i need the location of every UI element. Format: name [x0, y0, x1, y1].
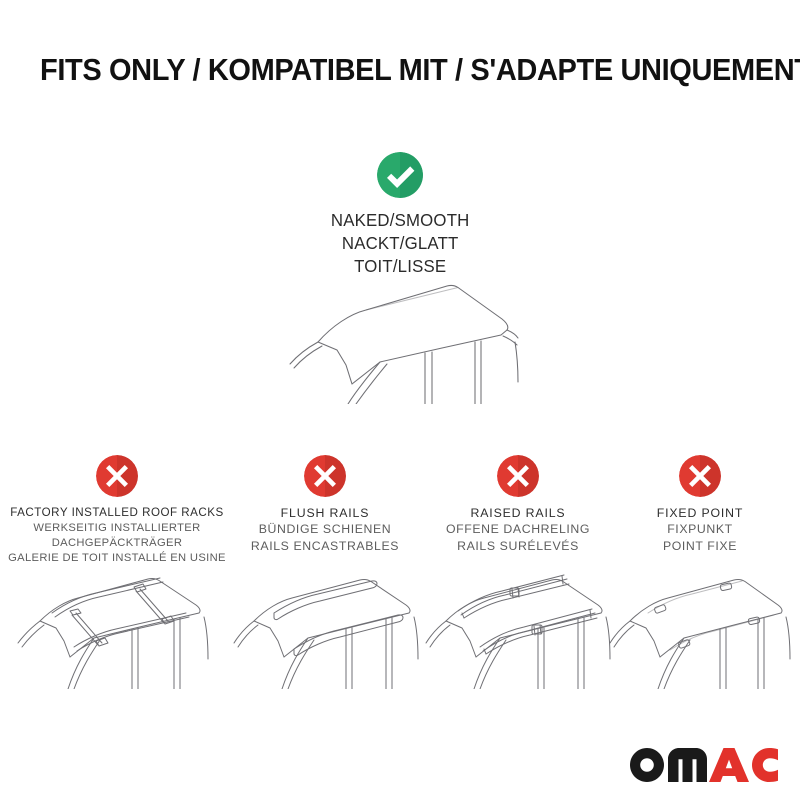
compatible-label-line-1: NAKED/SMOOTH: [331, 209, 470, 232]
logo-letter-m: [668, 748, 707, 782]
label-line-2: BÜNDIGE SCHIENEN: [251, 521, 399, 537]
car-roof-factory-installed-rack-illustration: [8, 549, 220, 694]
car-roof-fixed-point-illustration: [608, 563, 792, 694]
x-circle-icon: [304, 455, 346, 497]
incompatible-label: FIXED POINT FIXPUNKT POINT FIXE: [657, 505, 744, 554]
incompatible-item-factory-installed-roof-racks: FACTORY INSTALLED ROOF RACKS WERKSEITIG …: [0, 455, 234, 566]
label-line-1: FIXED POINT: [657, 505, 744, 521]
check-circle-icon: [377, 152, 423, 198]
car-roof-flush-rails-illustration: [232, 563, 422, 694]
omac-logo: [630, 748, 778, 782]
car-roof-raised-rails-illustration: [424, 563, 614, 694]
logo-letter-a: [709, 748, 749, 782]
label-line-3: RAILS SURÉLEVÉS: [446, 538, 590, 554]
compatible-label-line-2: NACKT/GLATT: [331, 232, 470, 255]
label-line-3: RAILS ENCASTRABLES: [251, 538, 399, 554]
page-title: FITS ONLY / KOMPATIBEL MIT / S'ADAPTE UN…: [40, 52, 800, 88]
incompatible-item-flush-rails: FLUSH RAILS BÜNDIGE SCHIENEN RAILS ENCAS…: [232, 455, 418, 554]
label-line-1: FLUSH RAILS: [251, 505, 399, 521]
compatible-group: NAKED/SMOOTH NACKT/GLATT TOIT/LISSE: [0, 152, 800, 277]
label-line-1: FACTORY INSTALLED ROOF RACKS: [8, 505, 226, 521]
label-line-1: RAISED RAILS: [446, 505, 590, 521]
x-circle-icon: [679, 455, 721, 497]
logo-letter-c: [752, 748, 778, 782]
logo-letter-o: [630, 748, 664, 782]
label-line-3: POINT FIXE: [657, 538, 744, 554]
incompatible-label: FLUSH RAILS BÜNDIGE SCHIENEN RAILS ENCAS…: [251, 505, 399, 554]
incompatible-item-fixed-point: FIXED POINT FIXPUNKT POINT FIXE: [614, 455, 786, 554]
incompatible-label: RAISED RAILS OFFENE DACHRELING RAILS SUR…: [446, 505, 590, 554]
x-circle-icon: [497, 455, 539, 497]
x-circle-icon: [96, 455, 138, 497]
incompatible-group: FACTORY INSTALLED ROOF RACKS WERKSEITIG …: [0, 455, 800, 695]
fitment-compatibility-infographic: { "header": { "title": "FITS ONLY / KOMP…: [0, 0, 800, 800]
label-line-2: WERKSEITIG INSTALLIERTER: [8, 521, 226, 536]
label-line-2: FIXPUNKT: [657, 521, 744, 537]
car-roof-naked-smooth-illustration: [262, 272, 562, 404]
label-line-2: OFFENE DACHRELING: [446, 521, 590, 537]
compatible-label: NAKED/SMOOTH NACKT/GLATT TOIT/LISSE: [328, 209, 472, 277]
incompatible-item-raised-rails: RAISED RAILS OFFENE DACHRELING RAILS SUR…: [424, 455, 612, 554]
